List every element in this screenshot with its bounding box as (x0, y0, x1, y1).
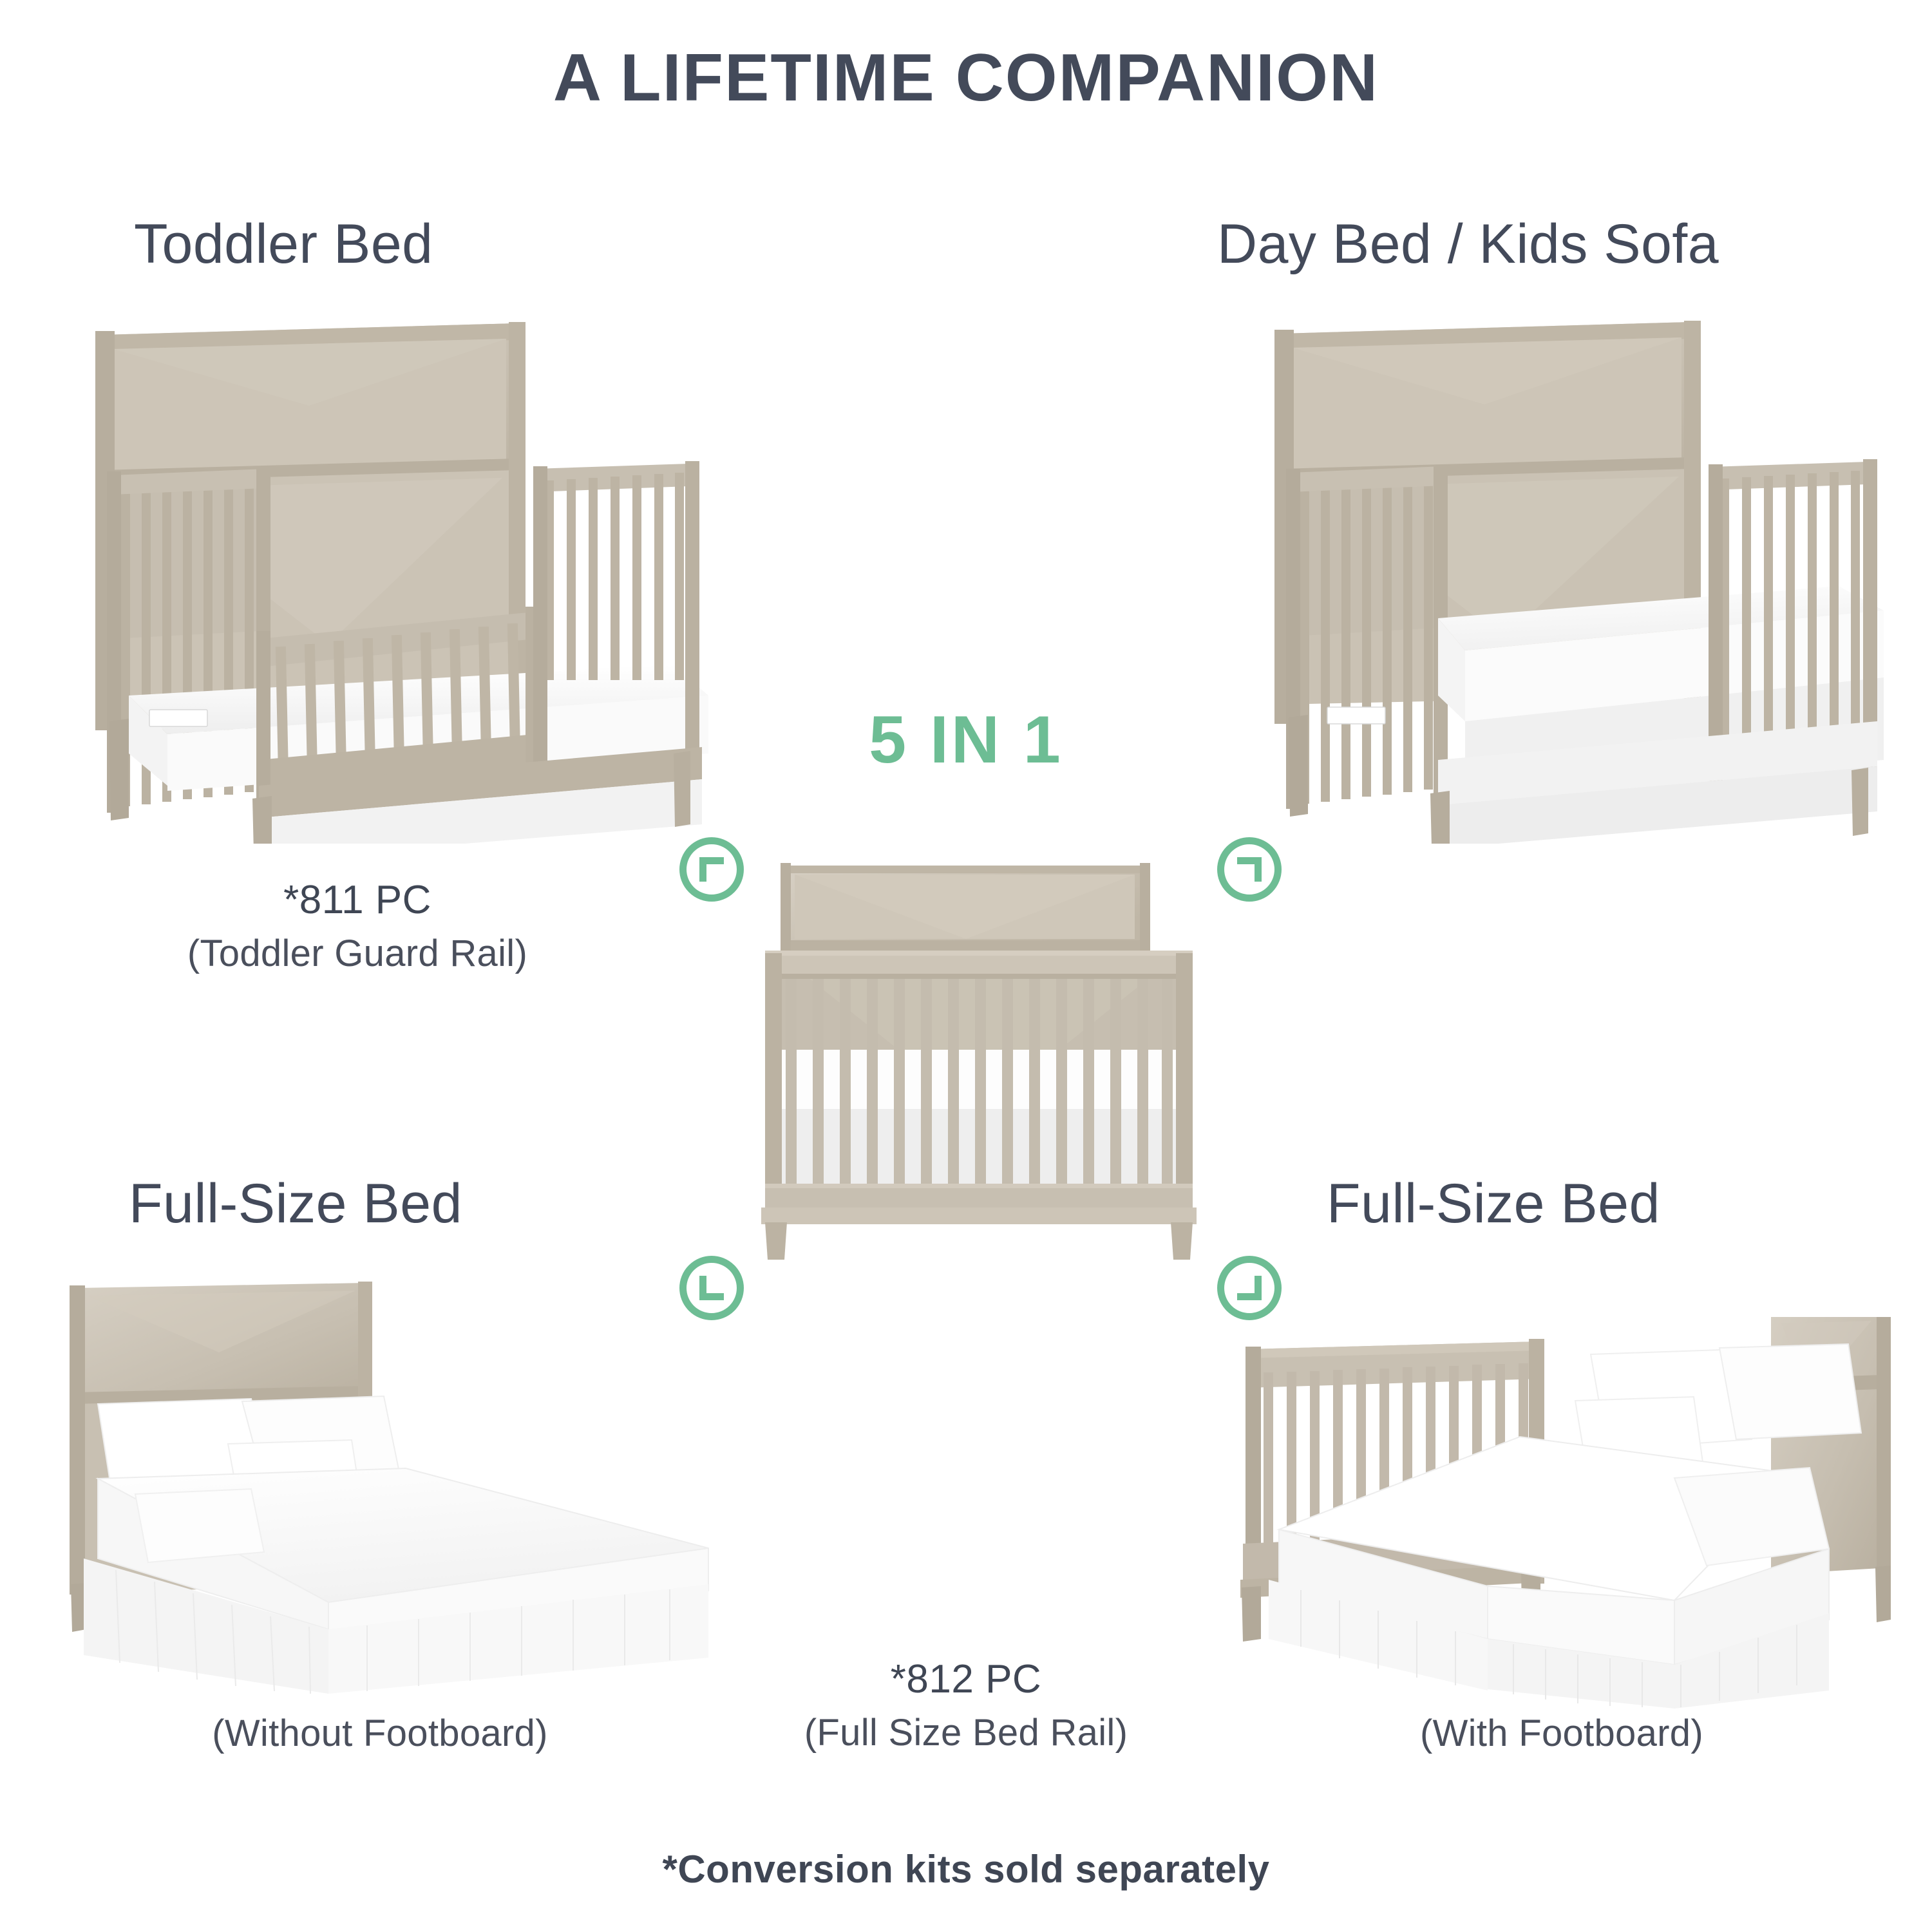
corner-bracket-bottom-right-icon (1217, 1256, 1282, 1320)
product-image-full-size-bed-with-footboard (1230, 1317, 1932, 1710)
page-title: A LIFETIME COMPANION (0, 40, 1932, 117)
caption-without-footboard-text: (Without Footboard) (0, 1712, 760, 1755)
product-image-toddler-bed (90, 309, 741, 844)
section-label-full-size-bed-left: Full-Size Bed (129, 1172, 462, 1236)
caption-with-footboard: (With Footboard) (1191, 1703, 1932, 1755)
caption-toddler-kit-code: *811 PC (0, 877, 715, 923)
infographic-page: A LIFETIME COMPANION Toddler Bed Day Bed… (0, 0, 1932, 1932)
corner-bracket-top-right-icon (1217, 837, 1282, 902)
product-image-full-size-bed-without-footboard (58, 1282, 779, 1707)
caption-toddler-kit-description: (Toddler Guard Rail) (0, 932, 715, 975)
product-image-day-bed (1272, 309, 1916, 844)
caption-without-footboard: (Without Footboard) (0, 1703, 760, 1755)
footer-disclaimer: *Conversion kits sold separately (0, 1847, 1932, 1891)
section-label-full-size-bed-right: Full-Size Bed (1327, 1172, 1660, 1236)
section-label-day-bed: Day Bed / Kids Sofa (1217, 213, 1719, 276)
caption-with-footboard-text: (With Footboard) (1191, 1712, 1932, 1755)
caption-toddler-kit: *811 PC (Toddler Guard Rail) (0, 877, 715, 975)
section-label-toddler-bed: Toddler Bed (134, 213, 433, 276)
product-image-crib (760, 857, 1198, 1262)
